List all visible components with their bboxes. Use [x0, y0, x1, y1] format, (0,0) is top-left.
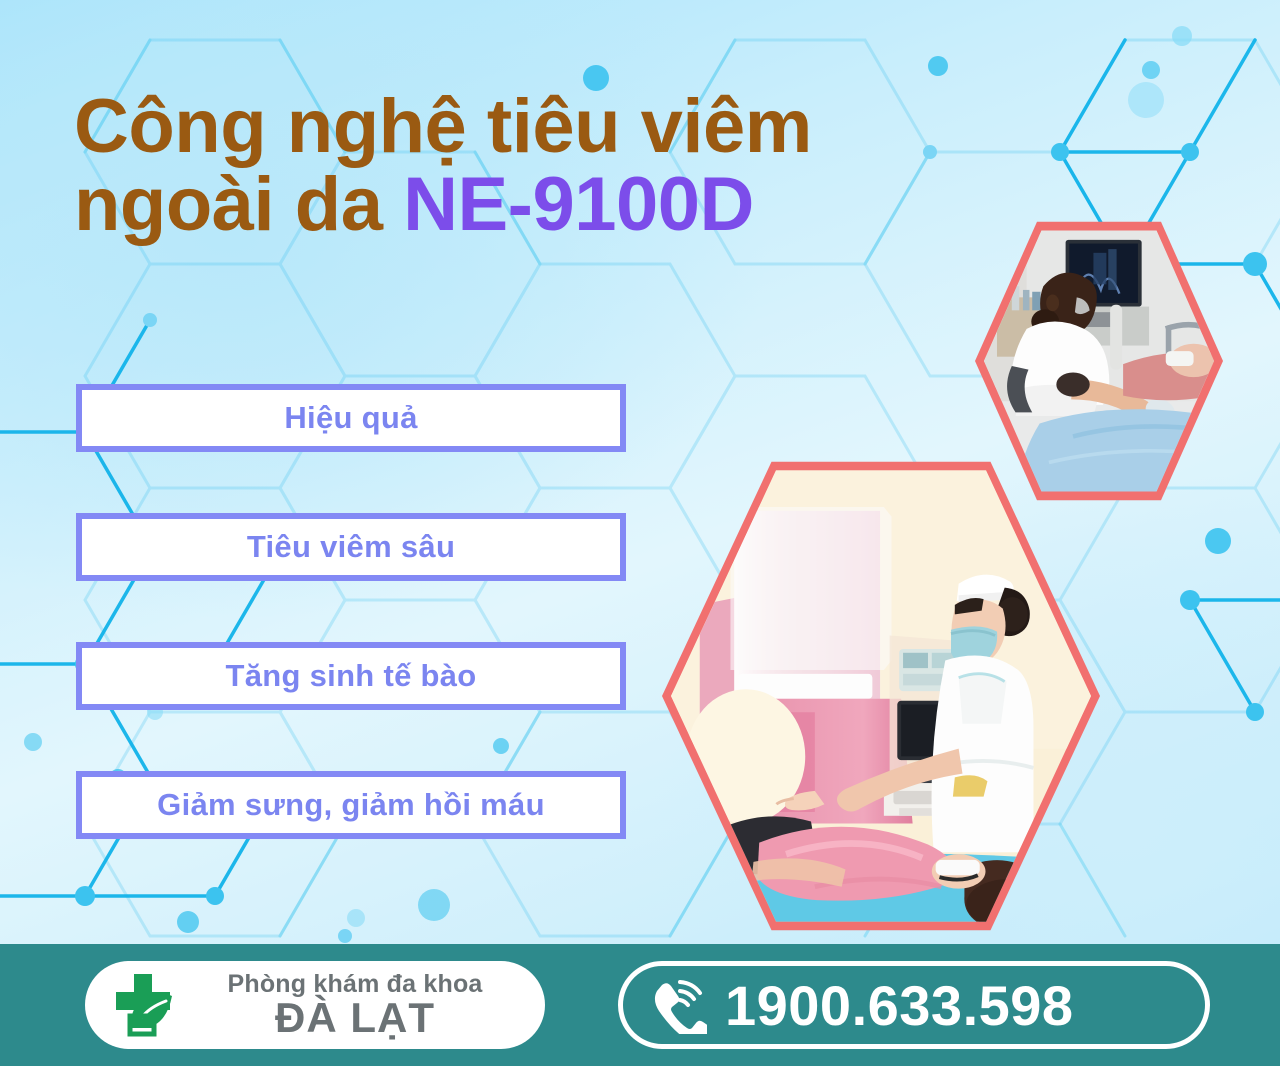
product-model-name: NE-9100D — [403, 162, 754, 247]
feature-box-4[interactable]: Giảm sưng, giảm hồi máu — [76, 771, 626, 839]
feature-label: Giảm sưng, giảm hồi máu — [157, 787, 545, 823]
feature-label: Hiệu quả — [284, 400, 417, 436]
phone-number: 1900.633.598 — [725, 973, 1074, 1038]
phone-ringing-icon — [649, 976, 707, 1034]
feature-box-3[interactable]: Tăng sinh tế bào — [76, 642, 626, 710]
feature-label: Tăng sinh tế bào — [225, 658, 476, 694]
headline: Công nghệ tiêu viêm ngoài da NE-9100D — [74, 88, 1014, 243]
photo-artwork — [984, 225, 1214, 494]
headline-line-2: ngoài da NE-9100D — [74, 166, 1014, 244]
feature-label: Tiêu viêm sâu — [247, 529, 455, 565]
clinic-logo-pill[interactable]: Phòng khám đa khoa ĐÀ LẠT — [85, 961, 545, 1049]
phone-cta[interactable]: 1900.633.598 — [618, 961, 1210, 1049]
promo-banner: Công nghệ tiêu viêm ngoài da NE-9100D Hi… — [0, 0, 1280, 1066]
footer-bar: Phòng khám đa khoa ĐÀ LẠT 1900.633.598 — [0, 944, 1280, 1066]
photo-clip — [671, 461, 1091, 931]
headline-line-2-prefix: ngoài da — [74, 162, 403, 247]
feature-list: Hiệu quả Tiêu viêm sâu Tăng sinh tế bào … — [76, 384, 626, 900]
feature-box-2[interactable]: Tiêu viêm sâu — [76, 513, 626, 581]
green-cross-leaf-logo — [99, 972, 191, 1038]
clinic-name-block: Phòng khám đa khoa ĐÀ LẠT — [191, 971, 545, 1038]
feature-box-1[interactable]: Hiệu quả — [76, 384, 626, 452]
photo-artwork — [671, 461, 1091, 929]
ultrasound-examination-photo — [975, 216, 1223, 506]
photo-clip — [984, 225, 1214, 497]
clinic-title: ĐÀ LẠT — [191, 997, 519, 1039]
headline-line-1: Công nghệ tiêu viêm — [74, 88, 1014, 166]
ne9100d-treatment-photo — [662, 452, 1100, 940]
